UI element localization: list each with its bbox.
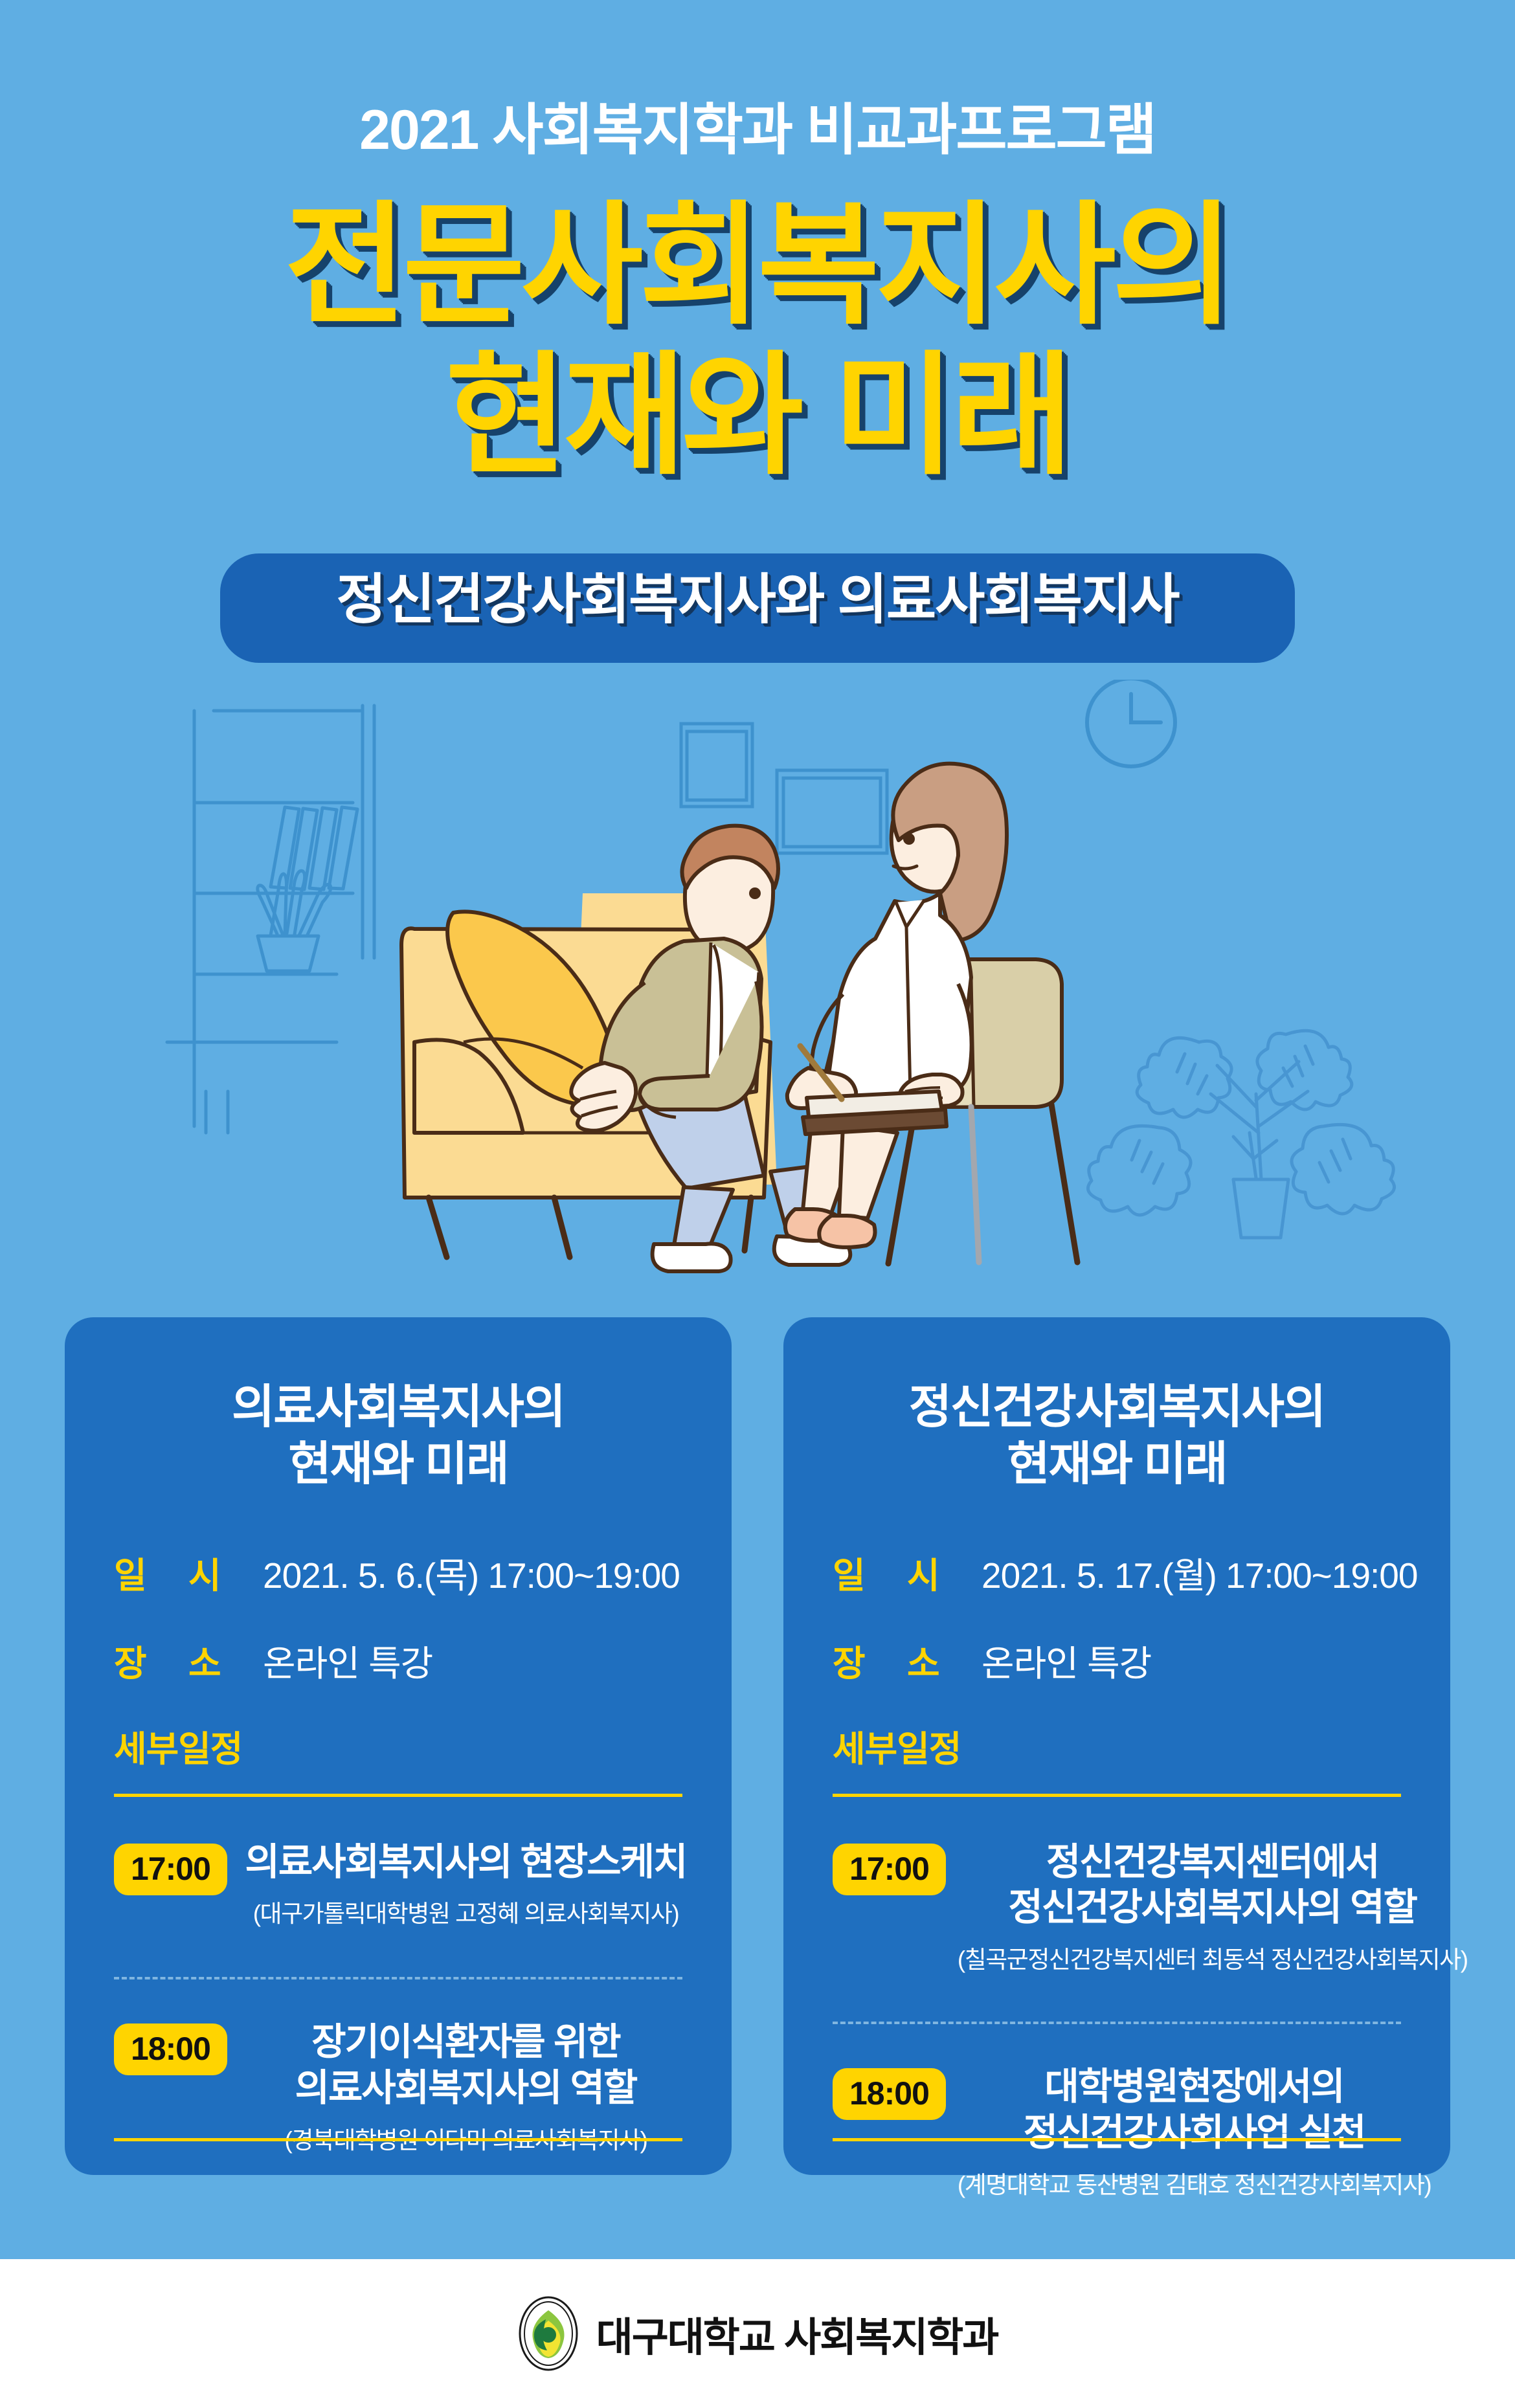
session-title-line-1: 의료사회복지사의 현장스케치 <box>239 1840 693 1886</box>
meta-row-location: 장 소 온라인 특강 <box>818 1634 1415 1686</box>
meta-label-char-1: 일 <box>833 1546 907 1598</box>
poster-title: 전문사회복지사의 현재와 미래 <box>0 191 1515 491</box>
books-icon <box>271 807 357 889</box>
clipboard-icon <box>803 1091 947 1134</box>
card-title-line-2: 현재와 미래 <box>818 1436 1415 1493</box>
session-title: 정신건강복지센터에서 정신건강사회복지사의 역할 <box>958 1840 1468 1932</box>
session-cards: 의료사회복지사의 현재와 미래 일 시 2021. 5. 6.(목) 17:00… <box>65 1317 1450 2175</box>
meta-label-char-2: 소 <box>907 1634 982 1686</box>
monstera-plant-icon <box>1088 1031 1394 1238</box>
session-title: 대학병원현장에서의 정신건강사회사업 실천 <box>958 2064 1431 2156</box>
meta-label-char-2: 소 <box>188 1634 263 1686</box>
session-body: 정신건강복지센터에서 정신건강사회복지사의 역할 (칠곡군정신건강복지센터 최동… <box>946 1840 1472 1976</box>
session-item: 17:00 정신건강복지센터에서 정신건강사회복지사의 역할 (칠곡군정신건강복… <box>818 1840 1415 1976</box>
schedule-label: 세부일정 <box>100 1720 697 1772</box>
card-title-line-2: 현재와 미래 <box>100 1436 697 1493</box>
schedule-label: 세부일정 <box>818 1720 1415 1772</box>
poster-title-line-1: 전문사회복지사의 <box>0 191 1515 341</box>
meta-label-location: 장 소 <box>833 1634 982 1686</box>
card-bottom-rule <box>833 2138 1401 2141</box>
session-spacer <box>100 1929 697 1977</box>
meta-label-char-2: 시 <box>907 1546 982 1598</box>
session-item: 18:00 장기이식환자를 위한 의료사회복지사의 역할 (경북대학병원 이다미… <box>100 2020 697 2156</box>
session-item: 18:00 대학병원현장에서의 정신건강사회사업 실천 (계명대학교 동산병원 … <box>818 2064 1415 2200</box>
poster-kicker: 2021 사회복지학과 비교과프로그램 <box>0 84 1515 165</box>
meta-label-char-1: 장 <box>833 1634 907 1686</box>
session-title-line-1: 대학병원현장에서의 <box>958 2064 1431 2110</box>
cabinet-icon <box>167 1042 337 1133</box>
subtitle-banner-wrap: 정신건강사회복지사와 의료사회복지사 <box>0 553 1515 663</box>
wall-frame-landscape-icon <box>777 770 887 853</box>
footer: 대구대학교 사회복지학과 <box>0 2259 1515 2408</box>
session-speaker: (칠곡군정신건강복지센터 최동석 정신건강사회복지사) <box>958 1940 1468 1975</box>
session-title-line-1: 장기이식환자를 위한 <box>239 2020 693 2066</box>
meta-value-location: 온라인 특강 <box>263 1634 432 1686</box>
card-title-line-1: 의료사회복지사의 <box>100 1379 697 1436</box>
card-title: 의료사회복지사의 현재와 미래 <box>100 1317 697 1493</box>
session-title-line-1: 정신건강복지센터에서 <box>958 1840 1468 1886</box>
session-time-badge: 17:00 <box>114 1844 227 1895</box>
card-title-line-1: 정신건강사회복지사의 <box>818 1379 1415 1436</box>
daegu-university-emblem-icon <box>517 2295 579 2372</box>
footer-inner: 대구대학교 사회복지학과 <box>517 2295 998 2372</box>
wall-frame-portrait-icon <box>681 724 752 807</box>
schedule-top-rule <box>114 1794 682 1797</box>
shelf-plant-icon <box>258 871 331 971</box>
card-mental-health-social-worker[interactable]: 정신건강사회복지사의 현재와 미래 일 시 2021. 5. 17.(월) 17… <box>783 1317 1450 2175</box>
meta-value-datetime: 2021. 5. 6.(목) 17:00~19:00 <box>263 1546 680 1598</box>
counseling-illustration <box>0 680 1515 1282</box>
footer-organization: 대구대학교 사회복지학과 <box>596 2304 998 2363</box>
session-time-badge: 17:00 <box>833 1844 946 1895</box>
meta-label-char-1: 일 <box>114 1546 188 1598</box>
session-spacer <box>818 1975 1415 2022</box>
card-bottom-rule <box>114 2138 682 2141</box>
wall-clock-icon <box>1087 680 1175 766</box>
session-title-line-2: 정신건강사회복지사의 역할 <box>958 1885 1468 1931</box>
meta-row-datetime: 일 시 2021. 5. 17.(월) 17:00~19:00 <box>818 1546 1415 1598</box>
meta-value-location: 온라인 특강 <box>982 1634 1151 1686</box>
meta-label-char-1: 장 <box>114 1634 188 1686</box>
meta-value-datetime: 2021. 5. 17.(월) 17:00~19:00 <box>982 1546 1417 1598</box>
session-title-line-2: 정신건강사회사업 실천 <box>958 2110 1431 2156</box>
session-time-badge: 18:00 <box>114 2023 227 2075</box>
meta-label-char-2: 시 <box>188 1546 263 1598</box>
card-title: 정신건강사회복지사의 현재와 미래 <box>818 1317 1415 1493</box>
session-body: 장기이식환자를 위한 의료사회복지사의 역할 (경북대학병원 이다미 의료사회복… <box>227 2020 697 2156</box>
meta-label-location: 장 소 <box>114 1634 263 1686</box>
session-title-line-2: 의료사회복지사의 역할 <box>239 2066 693 2112</box>
meta-label-datetime: 일 시 <box>833 1546 982 1598</box>
meta-row-location: 장 소 온라인 특강 <box>100 1634 697 1686</box>
subtitle-text: 정신건강사회복지사와 의료사회복지사 <box>336 556 1178 634</box>
subtitle-banner: 정신건강사회복지사와 의료사회복지사 <box>220 553 1295 663</box>
session-body: 대학병원현장에서의 정신건강사회사업 실천 (계명대학교 동산병원 김태호 정신… <box>946 2064 1435 2200</box>
schedule-top-rule <box>833 1794 1401 1797</box>
poster-title-line-2: 현재와 미래 <box>0 341 1515 491</box>
meta-label-datetime: 일 시 <box>114 1546 263 1598</box>
session-speaker: (대구가톨릭대학병원 고정혜 의료사회복지사) <box>239 1894 693 1929</box>
session-title: 장기이식환자를 위한 의료사회복지사의 역할 <box>239 2020 693 2112</box>
session-title: 의료사회복지사의 현장스케치 <box>239 1840 693 1886</box>
session-divider <box>833 2022 1401 2024</box>
card-medical-social-worker[interactable]: 의료사회복지사의 현재와 미래 일 시 2021. 5. 6.(목) 17:00… <box>65 1317 732 2175</box>
poster-root: 2021 사회복지학과 비교과프로그램 전문사회복지사의 현재와 미래 정신건강… <box>0 0 1515 2408</box>
session-speaker: (계명대학교 동산병원 김태호 정신건강사회복지사) <box>958 2165 1431 2200</box>
session-divider <box>114 1977 682 1979</box>
session-body: 의료사회복지사의 현장스케치 (대구가톨릭대학병원 고정혜 의료사회복지사) <box>227 1840 697 1930</box>
session-item: 17:00 의료사회복지사의 현장스케치 (대구가톨릭대학병원 고정혜 의료사회… <box>100 1840 697 1930</box>
session-time-badge: 18:00 <box>833 2068 946 2120</box>
meta-row-datetime: 일 시 2021. 5. 6.(목) 17:00~19:00 <box>100 1546 697 1598</box>
